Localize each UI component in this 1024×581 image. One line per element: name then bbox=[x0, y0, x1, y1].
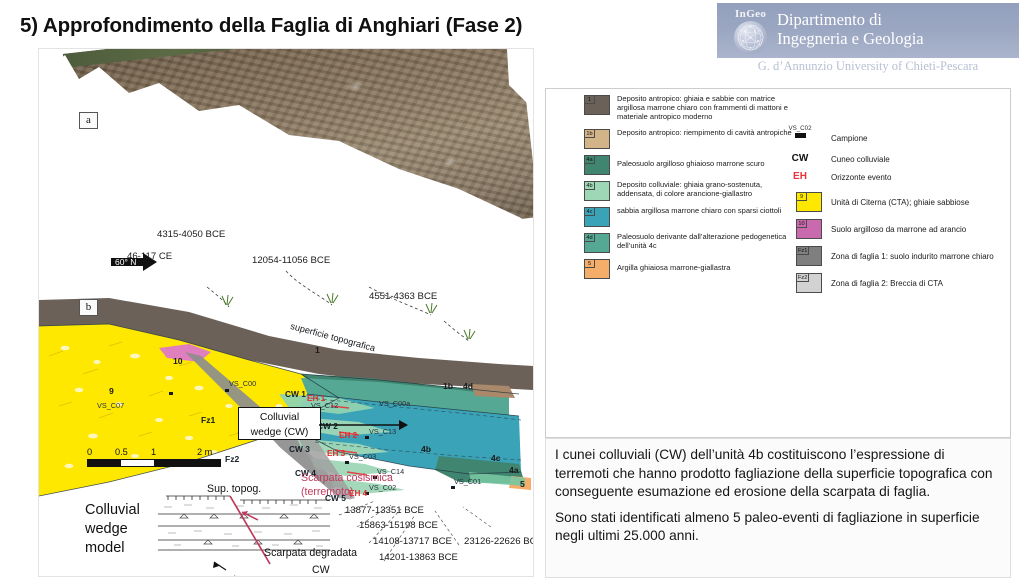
trench-figure-panel: a 60° N 4315-4050 BCE 46-117 CE 12054-11… bbox=[38, 48, 534, 577]
legend-swatch: 4d bbox=[584, 233, 610, 253]
legend-item: 5 Argilla ghiaiosa marrone-giallastra bbox=[584, 259, 802, 283]
ingeo-wordmark: InGeo bbox=[735, 8, 766, 20]
legend-item: 4a Paleosuolo argilloso ghiaioso marrone… bbox=[584, 155, 802, 179]
sample-marker-icon bbox=[345, 461, 349, 464]
legend-text: Suolo argilloso da marrone ad arancio bbox=[831, 225, 1019, 234]
eh-symbol-icon: EH bbox=[786, 171, 814, 182]
sample-marker-icon bbox=[225, 389, 229, 392]
panel-label-b: b bbox=[79, 299, 98, 316]
legend-item: Fz1 Zona di faglia 1: suolo indurito mar… bbox=[796, 246, 1008, 271]
legend-code: 5 bbox=[584, 259, 595, 268]
date-label: 46-117 CE bbox=[127, 251, 172, 262]
legend-code: Fz1 bbox=[796, 246, 809, 255]
sample-label: VS_C00a bbox=[379, 399, 410, 408]
legend-column-left: 1 Deposito antropico: ghiaia e sabbie co… bbox=[584, 95, 802, 285]
eh-label: EH 3 bbox=[327, 449, 345, 458]
department-line-2: Ingegneria e Geologia bbox=[777, 29, 1017, 48]
legend-code: 10 bbox=[796, 219, 807, 228]
sample-label: VS_C01 bbox=[454, 477, 481, 486]
description-panel: I cunei colluviali (CW) dell’unità 4b co… bbox=[545, 438, 1011, 578]
legend-item: 9 Unità di Citerna (CTA); ghiaie sabbios… bbox=[796, 192, 1008, 217]
coseismic-scarp-label: Scarpata cosismica bbox=[301, 472, 393, 484]
unit-label: 4a bbox=[509, 465, 519, 475]
scale-tick: 2 m bbox=[197, 447, 212, 457]
cw-model-title: Colluvial wedge model bbox=[85, 501, 171, 558]
description-paragraph-2: Sono stati identificati almeno 5 paleo-e… bbox=[546, 502, 1010, 546]
trench-photograph bbox=[63, 48, 534, 268]
date-label: 23126-22626 BCE bbox=[464, 536, 534, 547]
photo-vegetation-strip bbox=[63, 48, 517, 68]
legend-swatch: 1b bbox=[584, 129, 610, 149]
cw-label: CW 1 bbox=[285, 389, 306, 399]
scale-bar: 0 0.5 1 2 m bbox=[87, 447, 221, 467]
cw-model-diagram bbox=[144, 474, 404, 577]
date-label: 4315-4050 BCE bbox=[157, 229, 225, 240]
sample-label: VS_C00 bbox=[229, 379, 256, 388]
legend-text: Deposito antropico: ghiaia e sabbie con … bbox=[617, 94, 795, 122]
legend-swatch: 9 bbox=[796, 192, 822, 212]
legend-code: 4c bbox=[584, 207, 595, 216]
legend-text: Argilla ghiaiosa marrone-giallastra bbox=[617, 263, 795, 272]
cw-symbol-icon: CW bbox=[786, 153, 814, 164]
university-name: G. d’Annunzio University of Chieti-Pesca… bbox=[717, 59, 1019, 74]
unit-label: 4d bbox=[463, 381, 473, 391]
legend-code: 1b bbox=[584, 129, 595, 138]
scale-tick: 1 bbox=[151, 447, 156, 457]
legend-swatch: 4a bbox=[584, 155, 610, 175]
department-name: Dipartimento di Ingegneria e Geologia bbox=[777, 10, 1017, 48]
callout-line-2: wedge (CW) bbox=[239, 425, 320, 440]
legend-text: Cuneo colluviale bbox=[831, 155, 890, 164]
legend-item: 4b Deposito colluviale: ghiaia grano-sos… bbox=[584, 181, 802, 205]
legend-text: Paleosuolo argilloso ghiaioso marrone sc… bbox=[617, 159, 795, 168]
coseismic-scarp-sublabel: (terremoto) bbox=[301, 486, 353, 498]
fault-zone-label: Fz1 bbox=[201, 415, 215, 425]
legend-item: 10 Suolo argilloso da marrone ad arancio bbox=[796, 219, 1008, 244]
legend-code: Fz2 bbox=[796, 273, 809, 282]
sample-symbol-icon: VS_C02 bbox=[786, 125, 814, 138]
legend-text: Deposito antropico: riempimento di cavit… bbox=[617, 128, 795, 137]
legend-code: 4d bbox=[584, 233, 595, 242]
unit-label: 1 bbox=[315, 345, 320, 355]
legend-text: Zona di faglia 1: suolo indurito marrone… bbox=[831, 252, 1019, 261]
scale-bar-ticks: 0 0.5 1 2 m bbox=[87, 447, 221, 459]
legend-text: sabbia argillosa marrone chiaro con spar… bbox=[617, 206, 795, 215]
unit-label: 4b bbox=[421, 444, 431, 454]
unit-label: 5 bbox=[520, 479, 525, 489]
legend-item: 4c sabbia argillosa marrone chiaro con s… bbox=[584, 207, 802, 231]
legend-text: Orizzonte evento bbox=[831, 173, 891, 182]
legend-panel: 1 Deposito antropico: ghiaia e sabbie co… bbox=[545, 88, 1011, 438]
legend-code: 4b bbox=[584, 181, 595, 190]
fault-zone-label: Fz2 bbox=[225, 454, 239, 464]
sample-marker-icon bbox=[365, 436, 369, 439]
legend-text: Unità di Citerna (CTA); ghiaie sabbiose bbox=[831, 198, 1019, 207]
cw-model-title-line-3: model bbox=[85, 539, 171, 558]
scale-bar-graphic bbox=[87, 459, 221, 467]
sample-label: VS_C03 bbox=[349, 452, 376, 461]
legend-swatch: Fz2 bbox=[796, 273, 822, 293]
legend-symbol-item: VS_C02 Campione bbox=[786, 125, 1008, 153]
panel-label-a: a bbox=[79, 112, 98, 129]
legend-swatch: 5 bbox=[584, 259, 610, 279]
legend-code: 4a bbox=[584, 155, 595, 164]
legend-columns: 1 Deposito antropico: ghiaia e sabbie co… bbox=[546, 95, 1010, 277]
eh-label: EH 1 bbox=[307, 394, 325, 403]
legend-text: Campione bbox=[831, 134, 867, 143]
logo-block: InGeo Dipartimento di Ingegneria e Geolo… bbox=[717, 3, 1019, 76]
degraded-scarp-label: Scarpata degradata bbox=[264, 547, 357, 559]
legend-item: 1 Deposito antropico: ghiaia e sabbie co… bbox=[584, 95, 802, 127]
callout-line-1: Colluvial bbox=[239, 410, 320, 425]
scale-tick: 0.5 bbox=[115, 447, 128, 457]
legend-swatch: 10 bbox=[796, 219, 822, 239]
legend-item: 4d Paleosuolo derivante dall’alterazione… bbox=[584, 233, 802, 257]
scale-tick: 0 bbox=[87, 447, 92, 457]
sup-topog-label: Sup. topog. bbox=[207, 483, 261, 495]
colluvial-wedge-callout: Colluvial wedge (CW) bbox=[238, 407, 321, 440]
cw-model-title-line-1: Colluvial bbox=[85, 501, 171, 520]
legend-column-right: VS_C02 Campione CW Cuneo colluviale EH O… bbox=[786, 95, 1008, 300]
unit-label: 1b bbox=[443, 381, 453, 391]
legend-symbol-item: EH Orizzonte evento bbox=[786, 171, 1008, 192]
unit-label: 10 bbox=[173, 356, 183, 366]
page-title: 5) Approfondimento della Faglia di Anghi… bbox=[20, 14, 522, 38]
unit-label: 4c bbox=[491, 453, 501, 463]
legend-text: Paleosuolo derivante dall’alterazione pe… bbox=[617, 232, 795, 250]
legend-code: 1 bbox=[584, 95, 595, 104]
date-label: 4551-4363 BCE bbox=[369, 291, 437, 302]
sample-marker-icon bbox=[451, 486, 455, 489]
legend-text: Zona di faglia 2: Breccia di CTA bbox=[831, 279, 1019, 288]
date-label: 12054-11056 BCE bbox=[252, 255, 330, 266]
cw-model-cw-label: CW bbox=[312, 564, 330, 576]
legend-swatch: 4b bbox=[584, 181, 610, 201]
legend-swatch: Fz1 bbox=[796, 246, 822, 266]
legend-item: 1b Deposito antropico: riempimento di ca… bbox=[584, 129, 802, 153]
legend-swatch: 4c bbox=[584, 207, 610, 227]
legend-code: 9 bbox=[796, 192, 807, 201]
sample-symbol-code: VS_C02 bbox=[786, 125, 814, 132]
legend-swatch: 1 bbox=[584, 95, 610, 115]
unit-label: 9 bbox=[109, 386, 114, 396]
sphere-logo-icon bbox=[734, 21, 767, 54]
legend-symbol-item: CW Cuneo colluviale bbox=[786, 153, 1008, 171]
legend-item: Fz2 Zona di faglia 2: Breccia di CTA bbox=[796, 273, 1008, 298]
callout-arrow-icon bbox=[319, 417, 415, 433]
sample-label: VS_C07 bbox=[97, 401, 124, 410]
sample-marker-icon bbox=[169, 392, 173, 395]
legend-text: Deposito colluviale: ghiaia grano-sosten… bbox=[617, 180, 795, 198]
department-line-1: Dipartimento di bbox=[777, 10, 1017, 29]
description-paragraph-1: I cunei colluviali (CW) dell’unità 4b co… bbox=[546, 439, 1010, 502]
cw-label: CW 3 bbox=[289, 444, 310, 454]
cw-model-title-line-2: wedge bbox=[85, 520, 171, 539]
